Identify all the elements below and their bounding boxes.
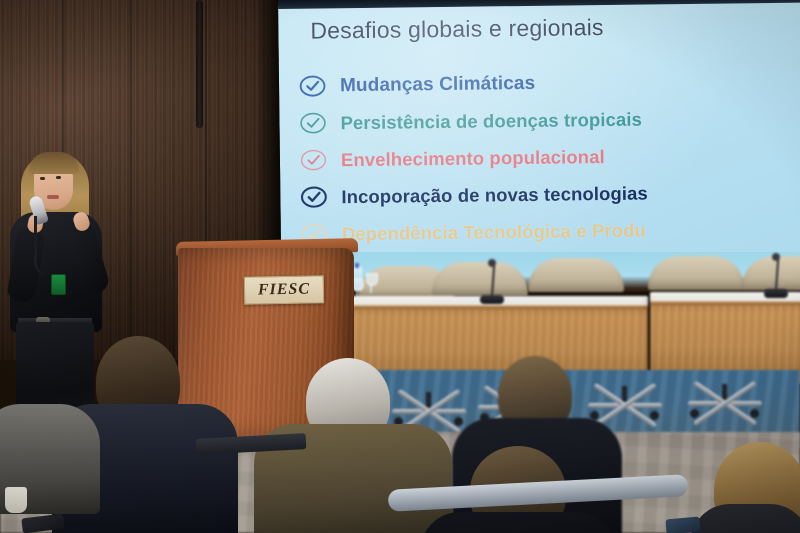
lanyard	[34, 216, 69, 276]
projection-screen: Desafios globais e regionais Mudanças Cl…	[278, 0, 800, 262]
presenter-eye	[40, 177, 45, 180]
presenter-mouth	[47, 195, 59, 199]
presenter-eye	[56, 176, 61, 179]
slide-bullet-label: Mudanças Climáticas	[340, 72, 535, 96]
slide-bullet-item: Incoporação de novas tecnologias	[300, 172, 800, 215]
rolling-chair	[688, 384, 762, 424]
check-circle-icon	[300, 185, 327, 208]
conference-photo: Desafios globais e regionais Mudanças Cl…	[0, 0, 800, 533]
podium-plaque-label: FIESC	[258, 281, 310, 300]
slide-title: Desafios globais e regionais	[310, 14, 604, 45]
coffee-cup	[5, 487, 27, 513]
slide-bullet-label: Persistência de doenças tropicais	[340, 108, 642, 134]
slide-bullet-label: Envelhecimento populacional	[341, 146, 605, 171]
slide-bullet-item: Dependência Tecnológica e Produ	[301, 209, 800, 252]
conference-chair	[432, 262, 528, 296]
podium-plaque: FIESC	[244, 275, 324, 304]
slide-surface: Desafios globais e regionais Mudanças Cl…	[278, 0, 800, 262]
id-badge	[51, 274, 66, 295]
drinking-glass	[366, 273, 376, 293]
slide-bullet-item: Persistência de doenças tropicais	[299, 98, 800, 141]
slide-bullet-item: Mudanças Climáticas	[299, 61, 800, 104]
check-circle-icon	[299, 111, 326, 134]
audience-shoulders	[420, 512, 616, 533]
slide-bullet-label: Incoporação de novas tecnologias	[341, 182, 648, 208]
presenter-hair-top	[29, 152, 79, 174]
phone-on-table	[665, 517, 700, 533]
check-circle-icon	[300, 148, 327, 171]
table-microphone	[486, 262, 498, 304]
check-circle-icon	[299, 74, 326, 97]
conference-chair	[648, 256, 744, 290]
slide-bullet-item: Envelhecimento populacional	[300, 135, 800, 178]
rolling-chair	[588, 386, 662, 426]
conference-chair	[528, 258, 624, 292]
slide-bullet-label: Dependência Tecnológica e Produ	[342, 219, 646, 245]
table-microphone	[770, 256, 782, 298]
slide-bullet-list: Mudanças Climáticas Persistência de doen…	[299, 61, 800, 252]
